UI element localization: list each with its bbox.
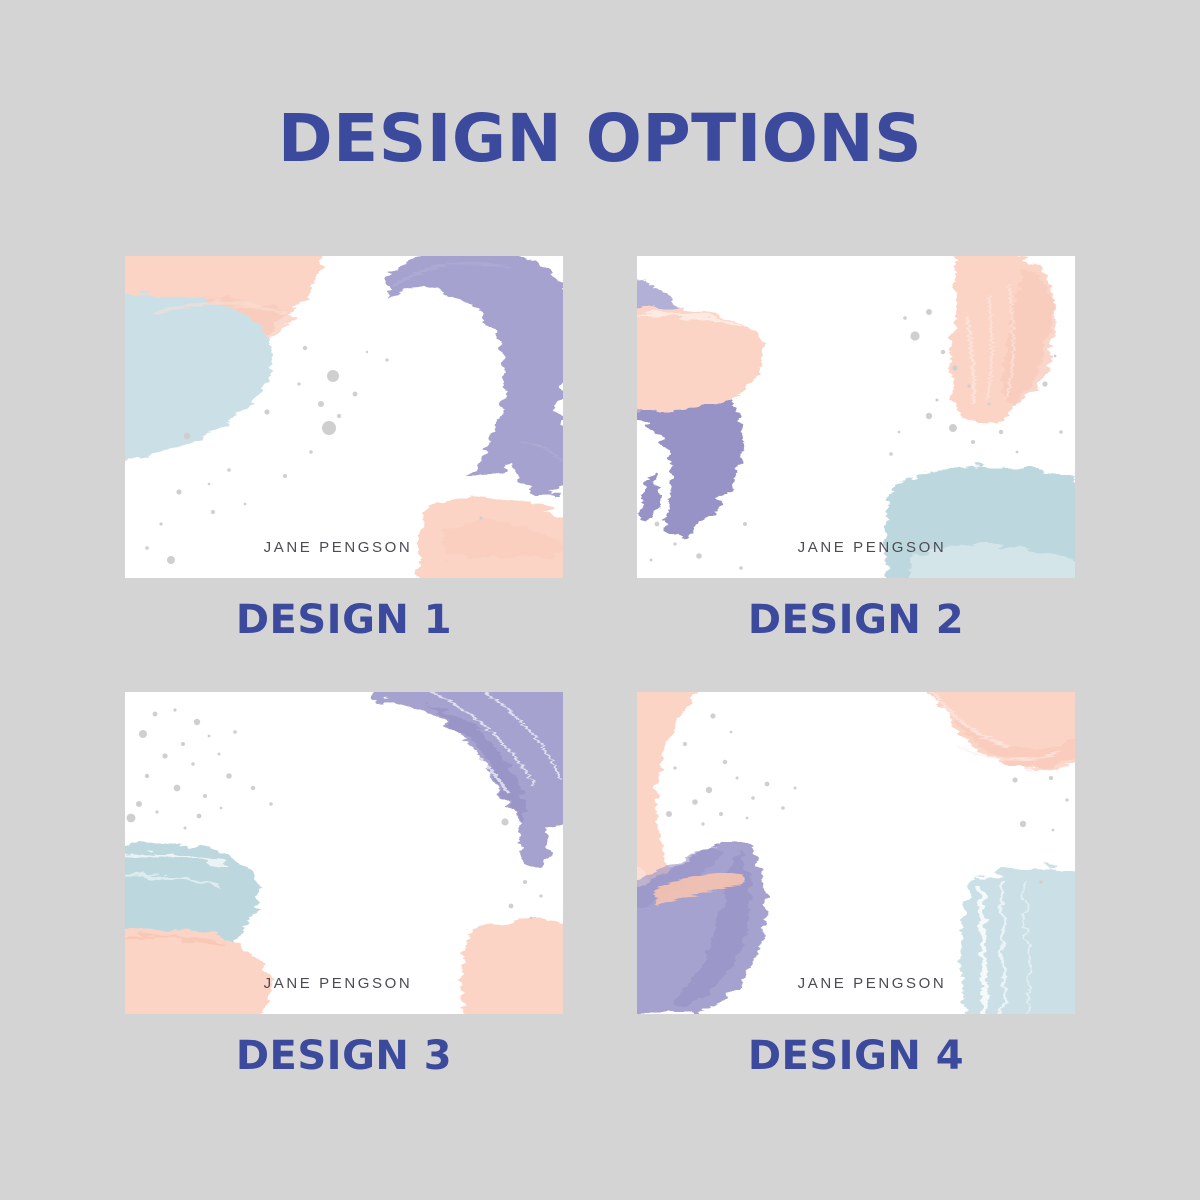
card-signature-name-2: JANE PENGSON [653,539,1075,556]
card-signature-name-1: JANE PENGSON [125,539,557,556]
design-label-1: DESIGN 1 [125,600,563,640]
design-label-4: DESIGN 4 [637,1036,1075,1076]
card-artwork-2 [637,256,1075,578]
card-preview-2[interactable]: JANE PENGSON [637,256,1075,578]
card-artwork-1 [125,256,563,578]
design-option-4[interactable]: JANE PENGSON DESIGN 4 [637,692,1075,1076]
design-option-3[interactable]: JANE PENGSON DESIGN 3 [125,692,563,1076]
card-signature-name-4: JANE PENGSON [653,975,1075,992]
design-label-2: DESIGN 2 [637,600,1075,640]
card-preview-3[interactable]: JANE PENGSON [125,692,563,1014]
card-artwork-3 [125,692,563,1014]
design-label-3: DESIGN 3 [125,1036,563,1076]
card-preview-1[interactable]: JANE PENGSON [125,256,563,578]
card-signature-name-3: JANE PENGSON [125,975,557,992]
design-options-page: DESIGN OPTIONS [0,0,1200,1200]
page-title: DESIGN OPTIONS [0,106,1200,172]
card-preview-4[interactable]: JANE PENGSON [637,692,1075,1014]
design-option-2[interactable]: JANE PENGSON DESIGN 2 [637,256,1075,640]
design-card-grid: JANE PENGSON DESIGN 1 [125,256,1075,1091]
card-artwork-4 [637,692,1075,1014]
design-option-1[interactable]: JANE PENGSON DESIGN 1 [125,256,563,640]
